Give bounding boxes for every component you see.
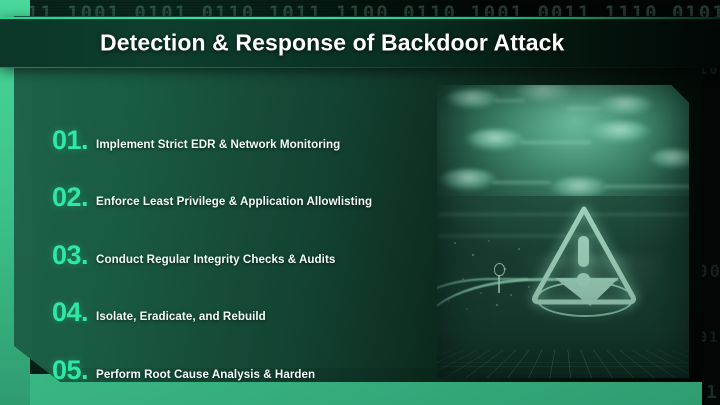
list-item: 01. Implement Strict EDR & Network Monit… — [52, 96, 432, 154]
list-item-label: Perform Root Cause Analysis & Harden — [96, 369, 315, 384]
list-item-number: 04. — [52, 299, 88, 326]
list-item: 02. Enforce Least Privilege & Applicatio… — [52, 154, 432, 212]
image-vignette — [437, 85, 689, 378]
recommendation-list: 01. Implement Strict EDR & Network Monit… — [52, 96, 432, 384]
list-item-label: Conduct Regular Integrity Checks & Audit… — [96, 254, 335, 269]
list-item-number: 05. — [52, 357, 88, 384]
list-item-label: Isolate, Eradicate, and Rebuild — [96, 311, 266, 326]
list-item: 03. Conduct Regular Integrity Checks & A… — [52, 211, 432, 269]
list-item-number: 01. — [52, 127, 88, 154]
list-item-label: Enforce Least Privilege & Application Al… — [96, 196, 372, 211]
slide: 1011 1001 0101 0110 1011 1100 0110 1001 … — [0, 0, 720, 405]
title-bar: Detection & Response of Backdoor Attack — [0, 17, 720, 68]
page-title: Detection & Response of Backdoor Attack — [100, 29, 564, 56]
list-item-label: Implement Strict EDR & Network Monitorin… — [96, 139, 340, 154]
list-item: 04. Isolate, Eradicate, and Rebuild — [52, 269, 432, 327]
illustration-image — [437, 85, 689, 378]
list-item: 05. Perform Root Cause Analysis & Harden — [52, 326, 432, 384]
list-item-number: 03. — [52, 242, 88, 269]
list-item-number: 02. — [52, 184, 88, 211]
